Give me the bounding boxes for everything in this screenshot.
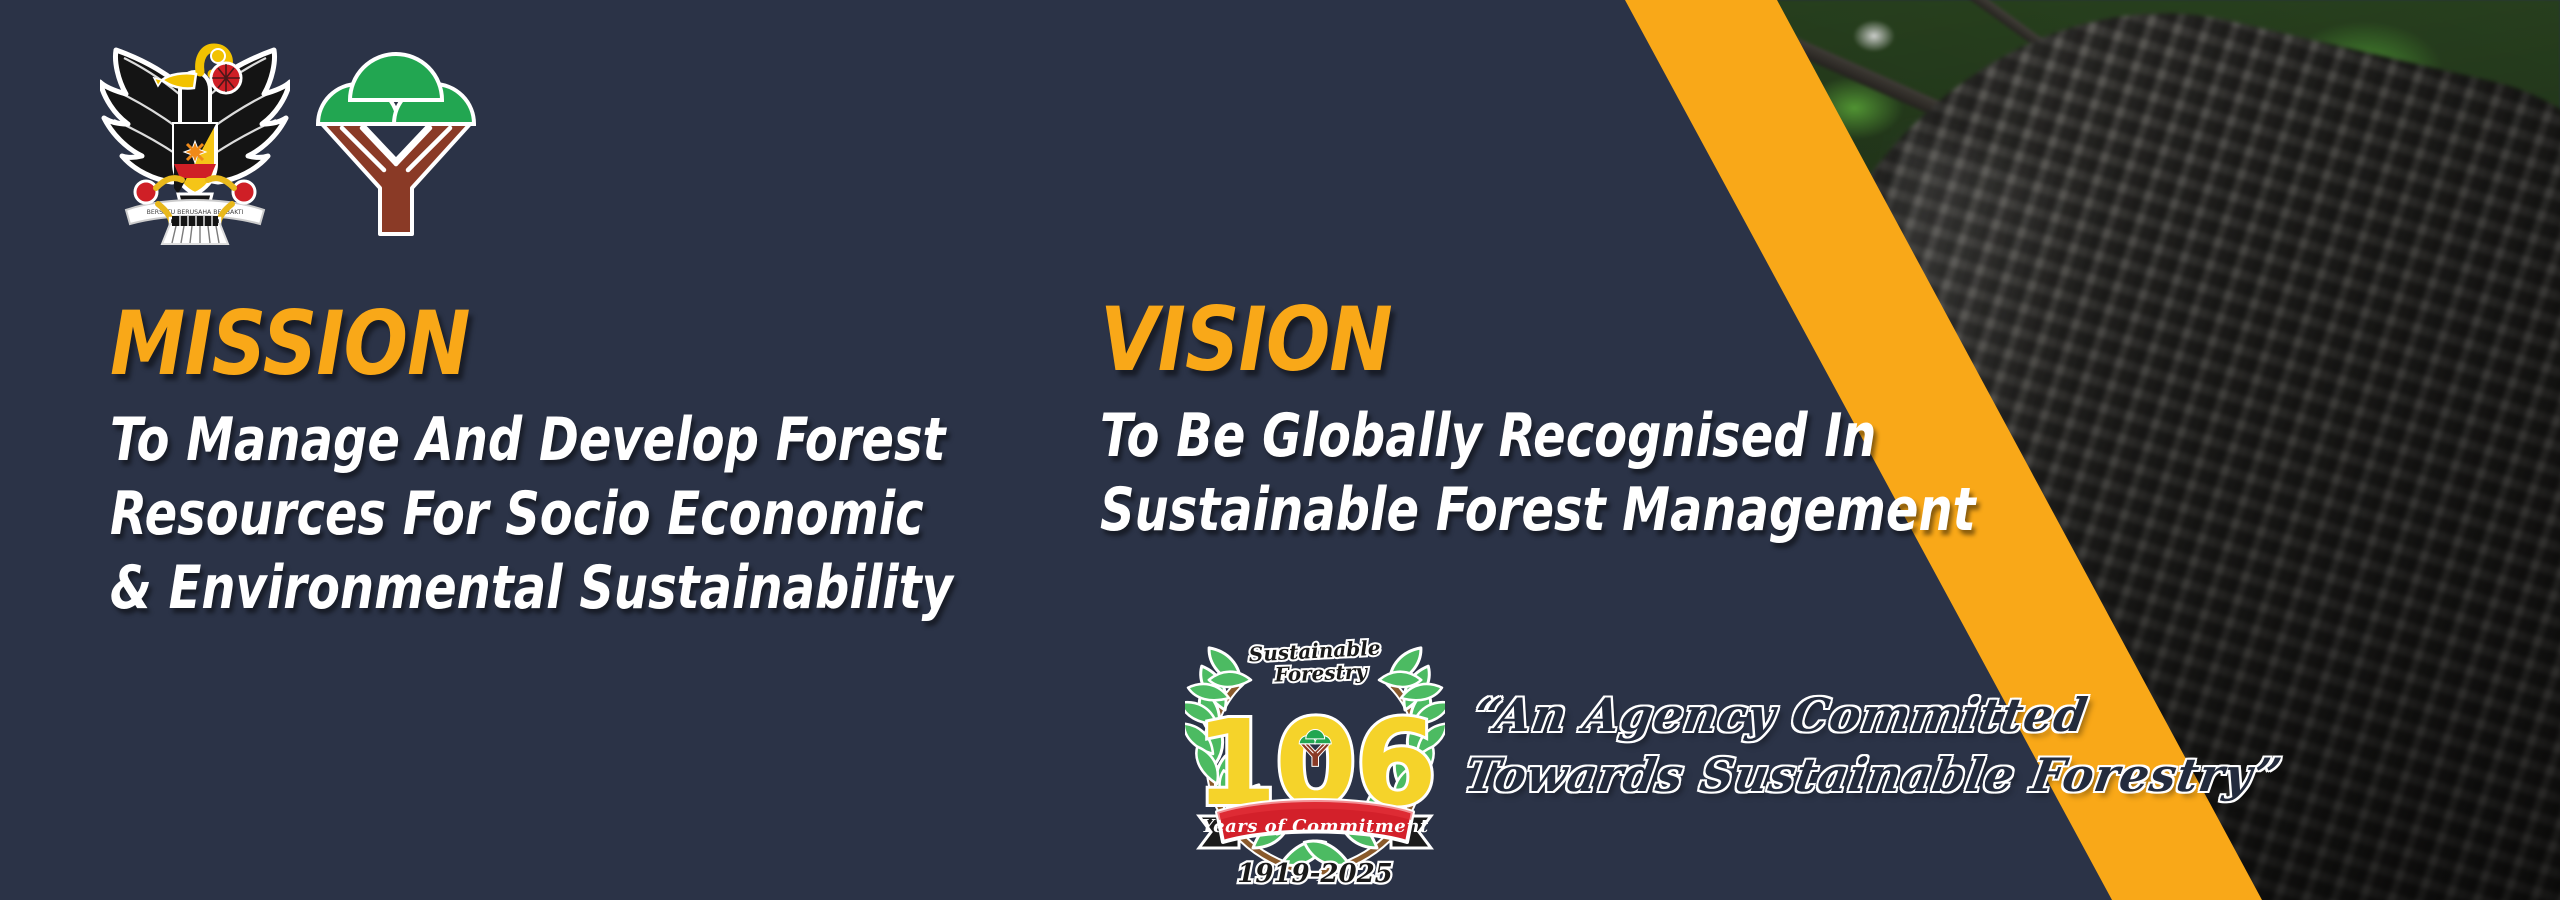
svg-text:Forestry: Forestry — [1273, 659, 1369, 686]
sarawak-crest-icon: BERSATU BERUSAHA BERBAKTI — [100, 28, 290, 246]
vision-line-2: Sustainable Forest Management — [1100, 474, 1860, 548]
mission-line-2: Resources For Socio Economic — [110, 478, 830, 552]
tagline-line-2: Towards Sustainable Forestry” — [1461, 746, 2090, 806]
mission-text: To Manage And Develop Forest Resources F… — [110, 404, 830, 625]
mission-line-3: & Environmental Sustainability — [110, 552, 830, 626]
mission-line-1: To Manage And Develop Forest — [110, 404, 830, 478]
forest-department-tree-icon — [312, 42, 480, 242]
emblem-top-text: Sustainable Forestry — [1248, 636, 1381, 687]
tagline: “An Agency Committed Towards Sustainable… — [1461, 686, 2100, 806]
vision-heading: VISION — [1100, 296, 1917, 384]
svg-text:Years of Commitment: Years of Commitment — [1201, 816, 1428, 837]
vision-text: To Be Globally Recognised In Sustainable… — [1100, 400, 1860, 548]
mission-heading: MISSION — [110, 300, 884, 388]
vision-line-1: To Be Globally Recognised In — [1100, 400, 1860, 474]
anniversary-emblem-icon: Sustainable Forestry 106 — [1185, 632, 1445, 894]
emblem-years: 1919-2025 — [1237, 859, 1393, 889]
tagline-line-1: “An Agency Committed — [1470, 686, 2099, 746]
logo-group: BERSATU BERUSAHA BERBAKTI — [100, 28, 480, 246]
mission-vision-banner: BERSATU BERUSAHA BERBAKTI — [0, 0, 2560, 900]
vision-block: VISION To Be Globally Recognised In Sust… — [1100, 296, 2050, 548]
mission-block: MISSION To Manage And Develop Forest Res… — [110, 300, 1010, 625]
